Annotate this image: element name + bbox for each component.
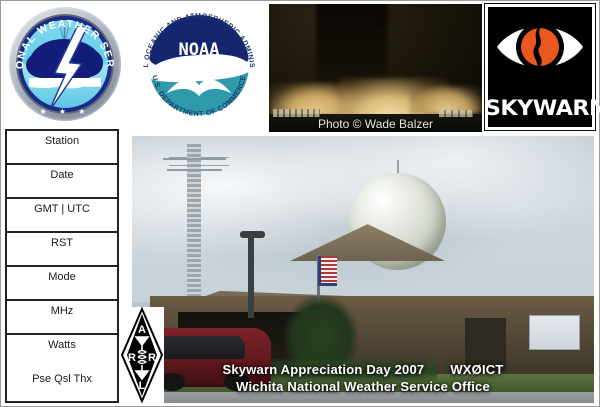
nws-ring-label: NATIONAL WEATHER SERVICE — [9, 7, 116, 70]
antenna-tower — [187, 144, 201, 320]
arrl-letter-l: L — [139, 380, 146, 392]
skywarn-logo: SKYWARN — [485, 4, 595, 130]
table-row[interactable]: Watts Pse Qsl Thx — [7, 335, 117, 395]
table-row[interactable]: Station — [7, 131, 117, 165]
svg-text:NATIONAL WEATHER SERVICE: NATIONAL WEATHER SERVICE — [9, 7, 116, 70]
building-sign — [529, 315, 580, 350]
log-label-watts: Watts — [7, 335, 117, 351]
log-label-rst: RST — [51, 233, 73, 249]
tornado-photo: Photo © Wade Balzer — [269, 4, 482, 132]
log-label-date: Date — [50, 165, 73, 181]
svg-text:U.S. DEPARTMENT OF COMMERCE: U.S. DEPARTMENT OF COMMERCE — [150, 75, 247, 118]
svg-text:NATIONAL OCEANIC AND ATMOSPHER: NATIONAL OCEANIC AND ATMOSPHERIC ADMINIS… — [140, 7, 255, 68]
national-weather-service-logo: NATIONAL WEATHER SERVICE ★ ★ ★ — [9, 7, 121, 121]
us-flag-icon — [318, 256, 336, 285]
arrl-letter-r2: R — [148, 352, 156, 364]
noaa-logo: NOAA NATIONAL OCEANIC AND ATMOSPHERIC AD… — [140, 7, 258, 123]
skywarn-wordmark: SKYWARN — [485, 96, 595, 120]
noaa-ring-text: NATIONAL OCEANIC AND ATMOSPHERIC ADMINIS… — [140, 7, 258, 123]
tornado-buildings-right — [439, 110, 473, 116]
skywarn-eye-icon — [494, 14, 586, 80]
building-door — [465, 318, 507, 371]
suv-wheel-rear — [224, 373, 250, 391]
street-lamp — [248, 237, 254, 317]
log-label-mhz: MHz — [51, 301, 74, 317]
arrl-letter-a: A — [138, 324, 146, 336]
table-row[interactable]: GMT | UTC — [7, 199, 117, 233]
arrl-letter-r1: R — [128, 352, 136, 364]
log-label-gmt-utc: GMT | UTC — [34, 199, 90, 215]
log-footer-pse-qsl-thx: Pse Qsl Thx — [7, 369, 117, 385]
sidewalk — [132, 392, 594, 403]
tornado-buildings-left — [273, 109, 320, 117]
nws-ring-text: NATIONAL WEATHER SERVICE — [9, 7, 121, 121]
log-label-mode: Mode — [48, 267, 76, 283]
qsl-card: NATIONAL WEATHER SERVICE ★ ★ ★ NOAA — [0, 0, 600, 407]
photo-credit: Photo © Wade Balzer — [269, 117, 482, 131]
bushes — [252, 355, 437, 382]
nws-stars: ★ ★ ★ — [9, 107, 121, 116]
table-row[interactable]: MHz — [7, 301, 117, 335]
noaa-ring-label-top: NATIONAL OCEANIC AND ATMOSPHERIC ADMINIS… — [140, 7, 255, 68]
table-row[interactable]: RST — [7, 233, 117, 267]
log-label-station: Station — [45, 131, 79, 147]
qsl-log-table: Station Date GMT | UTC RST Mode MHz Watt… — [5, 129, 119, 403]
table-row[interactable]: Mode — [7, 267, 117, 301]
arrl-diamond-logo: A R R L — [120, 307, 164, 403]
nws-office-photo — [132, 136, 594, 403]
noaa-ring-label-bottom: U.S. DEPARTMENT OF COMMERCE — [150, 75, 247, 118]
table-row[interactable]: Date — [7, 165, 117, 199]
